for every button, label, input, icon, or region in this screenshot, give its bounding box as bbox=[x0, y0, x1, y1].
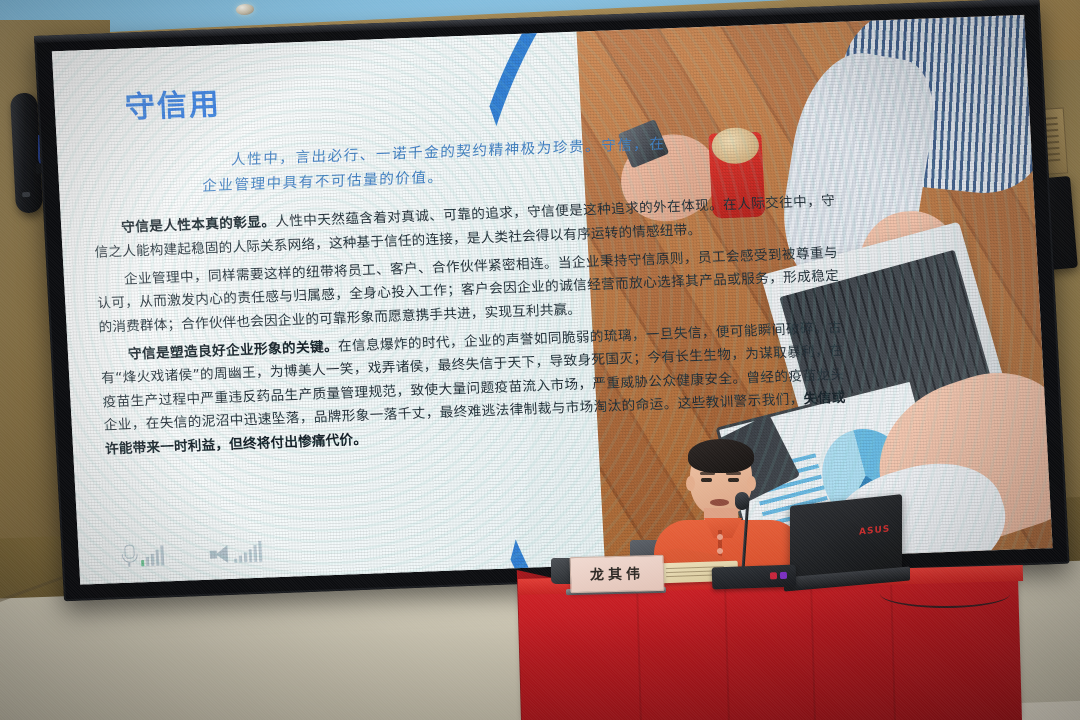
paragraph-text: 在信息爆炸的时代，企业的声誉如同脆弱的琉璃，一旦失信，便可能瞬间破碎。古有“烽火… bbox=[101, 319, 845, 433]
paragraph-lead: 守信是人性本真的彰显。 bbox=[121, 214, 276, 236]
mic-level-bars bbox=[140, 545, 164, 566]
mic-led-red bbox=[770, 572, 777, 579]
mic-level-group bbox=[120, 543, 164, 567]
conference-room-scene: 守信用 人性中，言出必行、一诺千金的契约精神极为珍贵。守信，在企业管理中具有不可… bbox=[0, 0, 1080, 720]
nameplate-text: 龙其伟 bbox=[590, 563, 644, 584]
power-cable bbox=[880, 580, 1010, 608]
presenter-brow bbox=[700, 472, 715, 475]
nameplate: 龙其伟 bbox=[570, 555, 665, 593]
presentation-slide: 守信用 人性中，言出必行、一诺千金的契约精神极为珍贵。守信，在企业管理中具有不可… bbox=[52, 15, 1053, 585]
led-video-wall: 守信用 人性中，言出必行、一诺千金的契约精神极为珍贵。守信，在企业管理中具有不可… bbox=[34, 0, 1070, 601]
laptop[interactable]: ASUS bbox=[790, 500, 902, 592]
paragraph-lead: 守信是塑造良好企业形象的关键。 bbox=[128, 338, 339, 362]
presenter-eye bbox=[728, 478, 739, 482]
speaker-icon bbox=[209, 545, 230, 564]
speaker-level-group bbox=[209, 542, 262, 564]
conference-microphone-unit bbox=[712, 565, 797, 590]
slide-quote: 人性中，言出必行、一诺千金的契约精神极为珍贵。守信，在企业管理中具有不可估量的价… bbox=[202, 132, 673, 200]
speaker-level-bars bbox=[233, 542, 262, 563]
presenter-ear bbox=[686, 476, 695, 491]
presenter-hair bbox=[688, 439, 754, 473]
microphone-icon bbox=[120, 544, 137, 567]
slide-body: 守信是人性本真的彰显。人性中天然蕴含着对真诚、可靠的追求，守信便是这种追求的外在… bbox=[93, 190, 848, 461]
presenter-brow bbox=[726, 472, 741, 475]
presenter-eye bbox=[701, 478, 712, 482]
presenter-button bbox=[717, 534, 723, 540]
presenter-ear bbox=[747, 476, 756, 491]
microphone-capsule bbox=[735, 492, 749, 510]
slide-title: 守信用 bbox=[124, 57, 808, 127]
mic-led-purple bbox=[780, 572, 787, 579]
presenter-mouth bbox=[710, 499, 729, 506]
presenter-button bbox=[717, 548, 723, 554]
